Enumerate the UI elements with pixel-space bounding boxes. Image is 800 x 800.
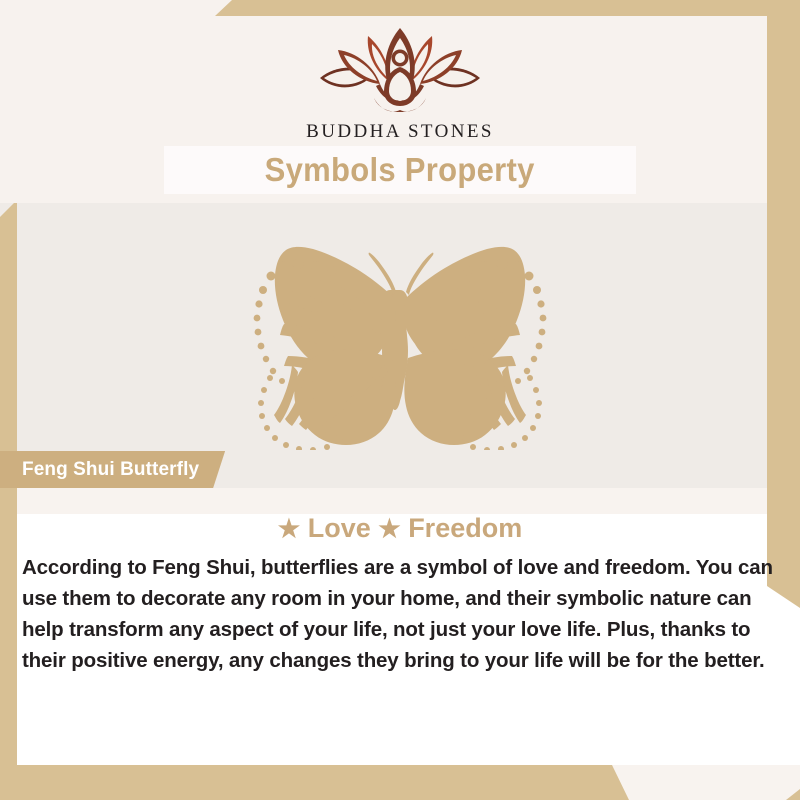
attribute-love: Love bbox=[308, 513, 371, 543]
star-icon-middle: ★ bbox=[378, 515, 400, 543]
label-text: Feng Shui Butterfly bbox=[22, 459, 199, 481]
brand-name: BUDDHA STONES bbox=[0, 121, 800, 143]
brand-logo: BUDDHA STONES bbox=[0, 22, 800, 143]
butterfly-icon bbox=[228, 238, 572, 450]
lotus-meditation-figure-icon bbox=[312, 22, 488, 118]
title-banner: Symbols Property bbox=[164, 146, 636, 194]
star-icon-left: ★ bbox=[278, 515, 300, 543]
description-paragraph: According to Feng Shui, butterflies are … bbox=[22, 552, 784, 676]
gold-border-top bbox=[215, 0, 800, 16]
attribute-freedom: Freedom bbox=[408, 513, 522, 543]
feng-shui-butterfly-label: Feng Shui Butterfly bbox=[0, 451, 225, 488]
attributes-heading: ★ Love ★ Freedom bbox=[0, 513, 800, 544]
background-band-lower bbox=[0, 488, 800, 514]
page-title: Symbols Property bbox=[265, 151, 535, 189]
promo-card: BUDDHA STONES Symbols Property bbox=[0, 0, 800, 800]
